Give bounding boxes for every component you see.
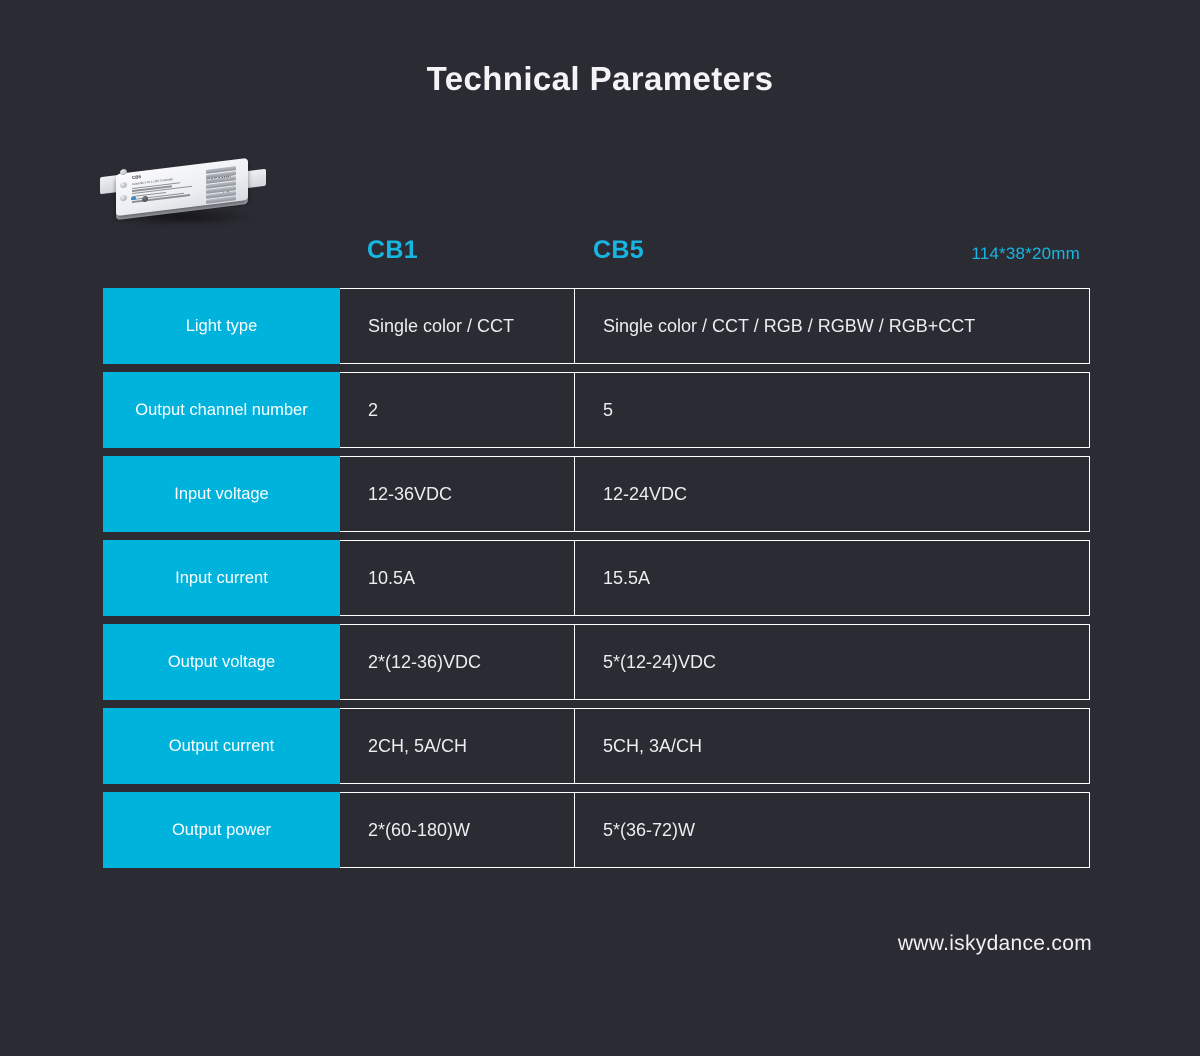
column-header-cb5: CB5 <box>593 236 644 265</box>
table-row: Input voltage 12-36VDC 12-24VDC <box>103 456 1090 532</box>
column-header-strip: CB1 CB5 114*38*20mm <box>103 236 1090 282</box>
cell-cb1: 2*(12-36)VDC <box>340 624 575 700</box>
row-label: Input voltage <box>103 456 340 532</box>
row-label: Output channel number <box>103 372 340 448</box>
table-row: Output channel number 2 5 <box>103 372 1090 448</box>
row-label: Output current <box>103 708 340 784</box>
spec-table: Light type Single color / CCT Single col… <box>103 288 1090 868</box>
row-label-text: Output voltage <box>168 651 275 673</box>
table-row: Input current 10.5A 15.5A <box>103 540 1090 616</box>
cell-cb5: 12-24VDC <box>575 456 1090 532</box>
product-image: CB5 Casambi 5 IN 1 LED Controller CASAMB… <box>98 152 270 236</box>
cell-cb1: 2CH, 5A/CH <box>340 708 575 784</box>
input-terminal-screws <box>120 168 129 201</box>
dimensions-label: 114*38*20mm <box>971 244 1080 264</box>
row-label-text: Output current <box>169 735 274 757</box>
spec-sheet-page: Technical Parameters CB5 Casambi 5 IN 1 … <box>0 0 1200 1056</box>
status-led <box>131 197 136 201</box>
row-label: Output voltage <box>103 624 340 700</box>
row-label-text: Input voltage <box>174 483 269 505</box>
row-label-text: Light type <box>186 315 258 337</box>
table-row: Output power 2*(60-180)W 5*(36-72)W <box>103 792 1090 868</box>
mounting-lug-right <box>246 169 266 188</box>
cell-cb5: Single color / CCT / RGB / RGBW / RGB+CC… <box>575 288 1090 364</box>
row-label-text: Output power <box>172 819 271 841</box>
row-label-text: Input current <box>175 567 268 589</box>
table-row: Output voltage 2*(12-36)VDC 5*(12-24)VDC <box>103 624 1090 700</box>
table-row: Output current 2CH, 5A/CH 5CH, 3A/CH <box>103 708 1090 784</box>
footer-website: www.iskydance.com <box>898 932 1092 956</box>
cell-cb5: 5 <box>575 372 1090 448</box>
cell-cb5: 15.5A <box>575 540 1090 616</box>
page-title: Technical Parameters <box>0 60 1200 98</box>
row-label: Input current <box>103 540 340 616</box>
cell-cb5: 5*(36-72)W <box>575 792 1090 868</box>
cell-cb5: 5*(12-24)VDC <box>575 624 1090 700</box>
row-label: Output power <box>103 792 340 868</box>
cell-cb1: 2 <box>340 372 575 448</box>
column-header-cb1: CB1 <box>367 236 418 265</box>
table-row: Light type Single color / CCT Single col… <box>103 288 1090 364</box>
cell-cb5: 5CH, 3A/CH <box>575 708 1090 784</box>
output-terminal-block <box>206 166 236 204</box>
cell-cb1: 12-36VDC <box>340 456 575 532</box>
cell-cb1: Single color / CCT <box>340 288 575 364</box>
cell-cb1: 10.5A <box>340 540 575 616</box>
row-label: Light type <box>103 288 340 364</box>
row-label-text: Output channel number <box>135 399 307 421</box>
cell-cb1: 2*(60-180)W <box>340 792 575 868</box>
